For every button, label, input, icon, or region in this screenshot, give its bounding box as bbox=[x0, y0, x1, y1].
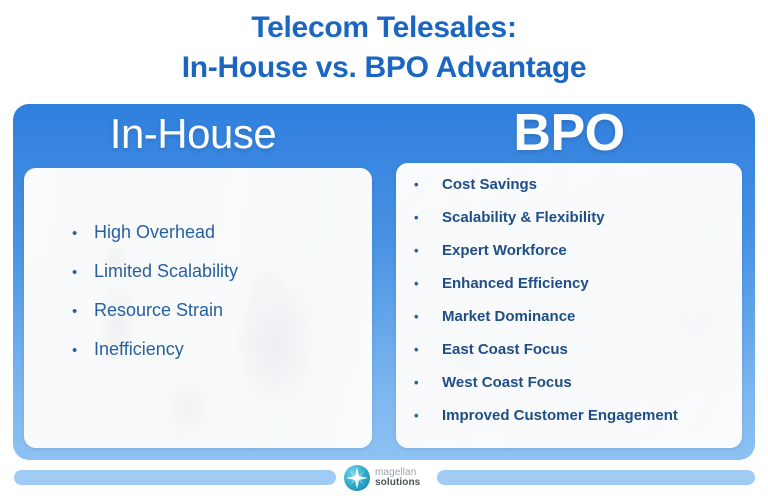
bullet-dot-icon: • bbox=[414, 374, 442, 391]
bullet-dot-icon: • bbox=[414, 242, 442, 259]
list-item-label: Resource Strain bbox=[94, 300, 223, 320]
bullet-dot-icon: • bbox=[72, 224, 94, 244]
title-line-2: In-House vs. BPO Advantage bbox=[0, 48, 768, 88]
logo-wordmark: magellan solutions bbox=[375, 468, 420, 488]
list-item-label: Market Dominance bbox=[442, 308, 575, 325]
list-item: • Scalability & Flexibility bbox=[414, 209, 744, 226]
bullet-dot-icon: • bbox=[414, 341, 442, 358]
list-item: • High Overhead bbox=[72, 222, 362, 244]
list-item-label: Inefficiency bbox=[94, 339, 184, 359]
list-item-label: High Overhead bbox=[94, 222, 215, 242]
list-item: • West Coast Focus bbox=[414, 374, 744, 391]
bpo-bullet-list: • Cost Savings • Scalability & Flexibili… bbox=[414, 176, 744, 440]
list-item: • Improved Customer Engagement bbox=[414, 407, 744, 424]
bullet-dot-icon: • bbox=[414, 308, 442, 325]
list-item: • Resource Strain bbox=[72, 300, 362, 322]
bullet-dot-icon: • bbox=[414, 209, 442, 226]
footer-bar-right bbox=[437, 470, 755, 485]
list-item-label: Expert Workforce bbox=[442, 242, 567, 259]
list-item-label: Enhanced Efficiency bbox=[442, 275, 589, 292]
list-item: • Limited Scalability bbox=[72, 261, 362, 283]
list-item: • Enhanced Efficiency bbox=[414, 275, 744, 292]
footer-bar-left bbox=[14, 470, 336, 485]
list-item: • Inefficiency bbox=[72, 339, 362, 361]
list-item: • East Coast Focus bbox=[414, 341, 744, 358]
list-item: • Cost Savings bbox=[414, 176, 744, 193]
in-house-bullet-list: • High Overhead • Limited Scalability • … bbox=[72, 222, 362, 378]
list-item-label: Scalability & Flexibility bbox=[442, 209, 605, 226]
bullet-dot-icon: • bbox=[72, 263, 94, 283]
bullet-dot-icon: • bbox=[414, 407, 442, 424]
list-item-label: Limited Scalability bbox=[94, 261, 238, 281]
bullet-dot-icon: • bbox=[414, 275, 442, 292]
list-item-label: Cost Savings bbox=[442, 176, 537, 193]
logo-text-line-2: solutions bbox=[375, 478, 420, 488]
bullet-dot-icon: • bbox=[72, 302, 94, 322]
compass-star-icon bbox=[344, 465, 370, 491]
list-item: • Expert Workforce bbox=[414, 242, 744, 259]
list-item-label: Improved Customer Engagement bbox=[442, 407, 678, 424]
magellan-solutions-logo: magellan solutions bbox=[344, 464, 430, 492]
list-item-label: West Coast Focus bbox=[442, 374, 572, 391]
list-item: • Market Dominance bbox=[414, 308, 744, 325]
title-line-1: Telecom Telesales: bbox=[0, 8, 768, 48]
column-heading-bpo: BPO bbox=[396, 104, 742, 162]
bullet-dot-icon: • bbox=[414, 176, 442, 193]
list-item-label: East Coast Focus bbox=[442, 341, 568, 358]
column-heading-in-house: In-House bbox=[13, 109, 373, 159]
bullet-dot-icon: • bbox=[72, 341, 94, 361]
page-title: Telecom Telesales: In-House vs. BPO Adva… bbox=[0, 8, 768, 88]
